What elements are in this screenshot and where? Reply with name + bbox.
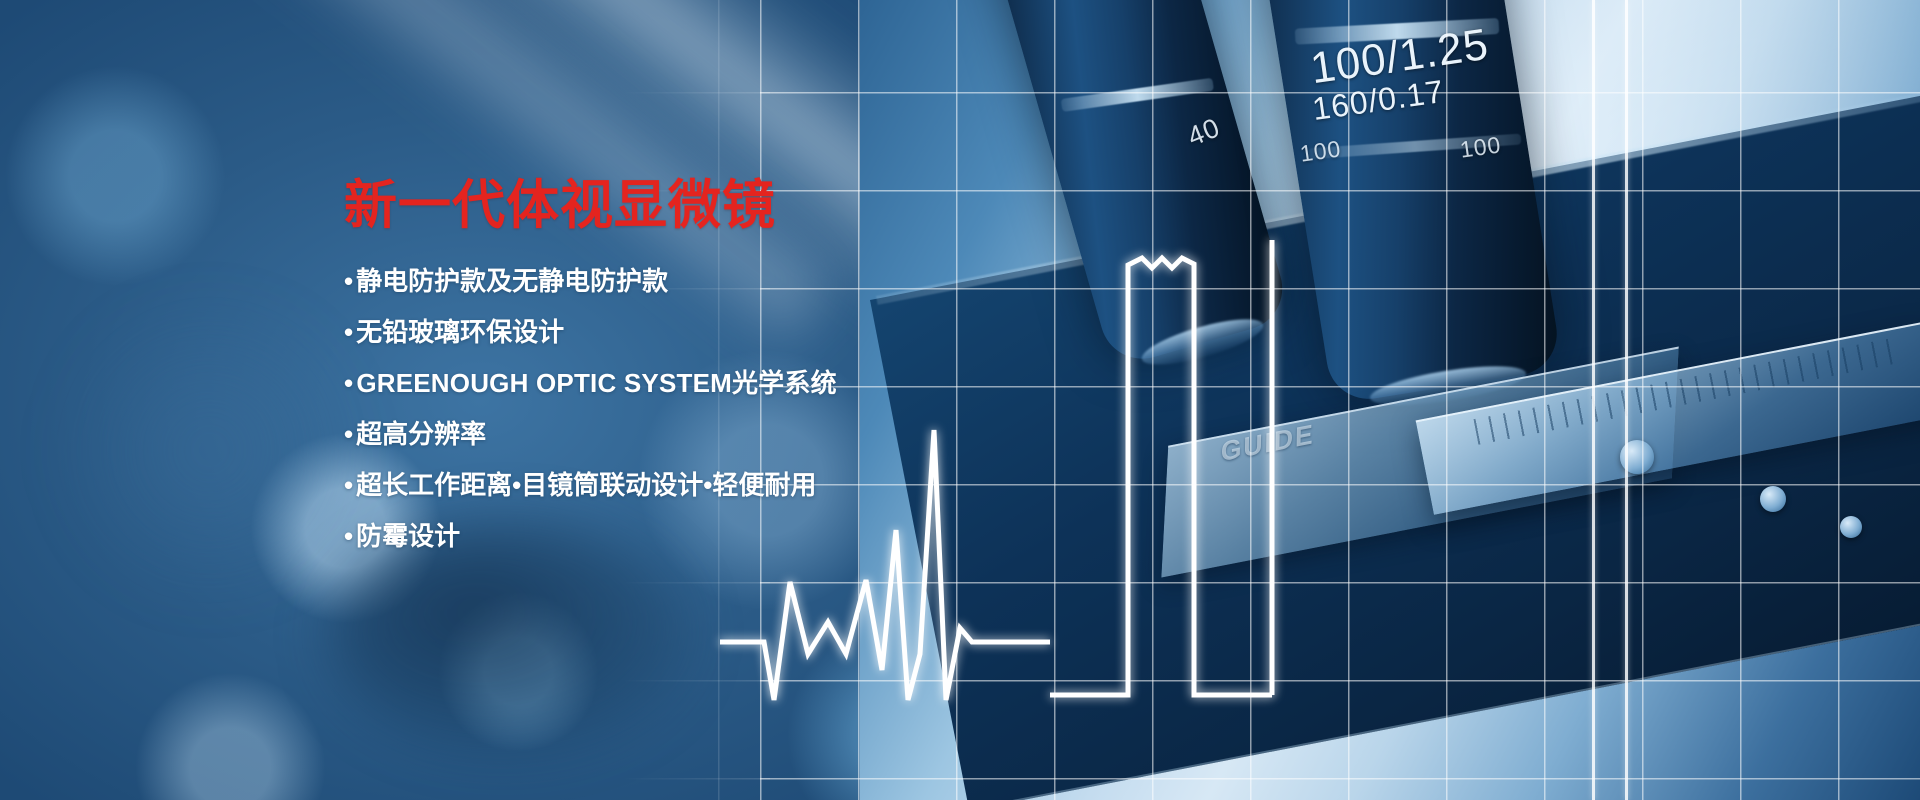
background-blur-blob-upper — [60, 300, 360, 600]
stage-knob — [1620, 440, 1654, 474]
bullet-marker-icon: • — [344, 266, 353, 296]
list-item: •超高分辨率 — [344, 421, 964, 447]
bullet-marker-icon: • — [344, 521, 353, 551]
list-item: •超长工作距离•目镜筒联动设计•轻便耐用 — [344, 472, 964, 498]
feature-list: •静电防护款及无静电防护款 •无铅玻璃环保设计 •GREENOUGH OPTIC… — [344, 268, 964, 549]
hero-banner: 40 100/1.25 160/0.17 100 100 GUIDE 新一代体视… — [0, 0, 1920, 800]
page-title: 新一代体视显微镜 — [344, 178, 964, 234]
stage-knob — [1760, 486, 1786, 512]
list-item: •防霉设计 — [344, 523, 964, 549]
list-item-label: 超长工作距离•目镜筒联动设计•轻便耐用 — [356, 470, 816, 500]
list-item-label: 超高分辨率 — [356, 419, 486, 449]
bullet-marker-icon: • — [344, 470, 353, 500]
bullet-marker-icon: • — [344, 368, 353, 398]
banner-copy: 新一代体视显微镜 •静电防护款及无静电防护款 •无铅玻璃环保设计 •GREENO… — [344, 178, 964, 574]
stage-knob — [1840, 516, 1862, 538]
list-item-label: 无铅玻璃环保设计 — [356, 317, 564, 347]
bullet-marker-icon: • — [344, 317, 353, 347]
list-item: •无铅玻璃环保设计 — [344, 319, 964, 345]
lens-highlight-band — [1061, 78, 1214, 112]
list-item-label: GREENOUGH OPTIC SYSTEM光学系统 — [356, 368, 836, 398]
list-item-label: 防霉设计 — [356, 521, 460, 551]
lens-label-ring-left: 100 — [1298, 135, 1343, 167]
list-item: •GREENOUGH OPTIC SYSTEM光学系统 — [344, 370, 964, 396]
bullet-marker-icon: • — [344, 419, 353, 449]
list-item-label: 静电防护款及无静电防护款 — [356, 266, 668, 296]
microscope-photo: 40 100/1.25 160/0.17 100 100 GUIDE — [860, 0, 1920, 800]
list-item: •静电防护款及无静电防护款 — [344, 268, 964, 294]
lens-label-ring-right: 100 — [1458, 131, 1503, 163]
